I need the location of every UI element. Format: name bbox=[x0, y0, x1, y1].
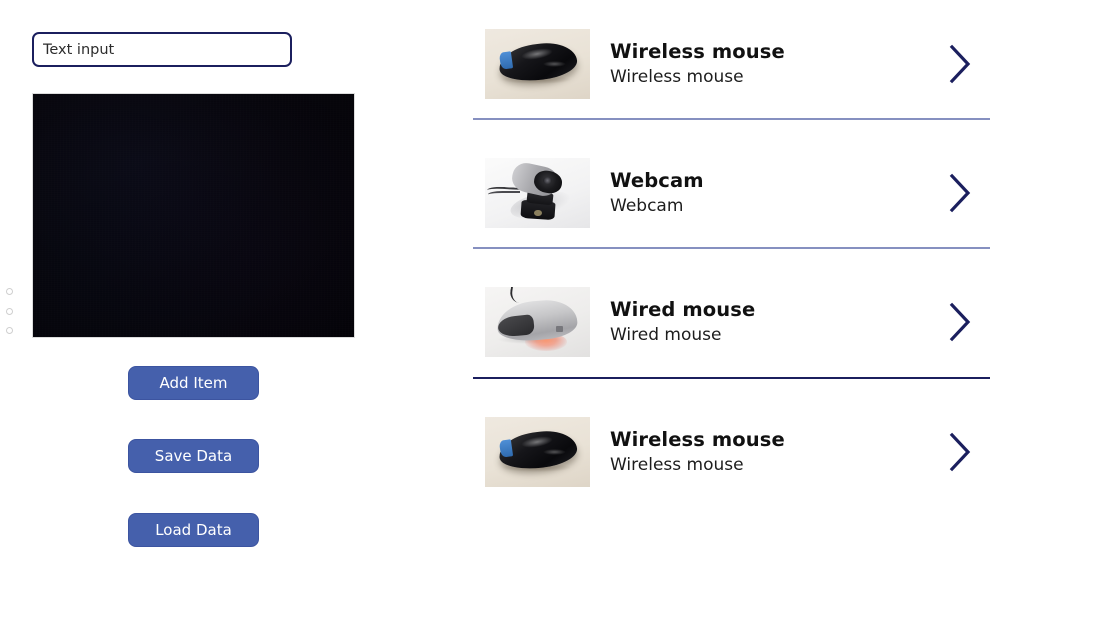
item-thumbnail-webcam bbox=[485, 158, 590, 228]
chevron-right-icon[interactable] bbox=[940, 431, 980, 473]
list-item[interactable]: Webcam Webcam bbox=[473, 145, 990, 241]
list-item-text: Wired mouse Wired mouse bbox=[610, 298, 940, 347]
text-input[interactable] bbox=[32, 32, 292, 67]
chevron-right-icon[interactable] bbox=[940, 43, 980, 85]
drag-handle-dot bbox=[6, 327, 13, 334]
camera-preview-noise bbox=[33, 94, 354, 337]
list-divider bbox=[473, 377, 990, 379]
list-item-title: Wired mouse bbox=[610, 298, 940, 322]
list-scrollbar-track[interactable] bbox=[984, 0, 992, 621]
list-item[interactable]: Wireless mouse Wireless mouse bbox=[473, 16, 990, 112]
chevron-right-icon[interactable] bbox=[940, 301, 980, 343]
list-item-title: Webcam bbox=[610, 169, 940, 193]
chevron-right-icon[interactable] bbox=[940, 172, 980, 214]
left-control-panel: Add Item Save Data Load Data bbox=[0, 0, 460, 621]
list-divider bbox=[473, 118, 990, 120]
item-thumbnail-wireless-mouse bbox=[485, 417, 590, 487]
add-item-button[interactable]: Add Item bbox=[128, 366, 259, 400]
list-item-subtitle: Webcam bbox=[610, 195, 940, 217]
list-item-subtitle: Wireless mouse bbox=[610, 66, 940, 88]
list-item-text: Webcam Webcam bbox=[610, 169, 940, 218]
drag-handle-dot bbox=[6, 308, 13, 315]
list-item[interactable]: Wired mouse Wired mouse bbox=[473, 274, 990, 370]
list-divider bbox=[473, 247, 990, 249]
item-thumbnail-wireless-mouse bbox=[485, 29, 590, 99]
item-list: Wireless mouse Wireless mouse bbox=[473, 0, 990, 621]
list-item-subtitle: Wired mouse bbox=[610, 324, 940, 346]
list-item-title: Wireless mouse bbox=[610, 40, 940, 64]
list-item[interactable]: Wireless mouse Wireless mouse bbox=[473, 404, 990, 500]
drag-handle[interactable] bbox=[3, 288, 15, 334]
list-item-title: Wireless mouse bbox=[610, 428, 940, 452]
camera-preview bbox=[32, 93, 355, 338]
list-item-subtitle: Wireless mouse bbox=[610, 454, 940, 476]
item-thumbnail-wired-mouse bbox=[485, 287, 590, 357]
load-data-button[interactable]: Load Data bbox=[128, 513, 259, 547]
save-data-button[interactable]: Save Data bbox=[128, 439, 259, 473]
drag-handle-dot bbox=[6, 288, 13, 295]
list-item-text: Wireless mouse Wireless mouse bbox=[610, 40, 940, 89]
list-item-text: Wireless mouse Wireless mouse bbox=[610, 428, 940, 477]
